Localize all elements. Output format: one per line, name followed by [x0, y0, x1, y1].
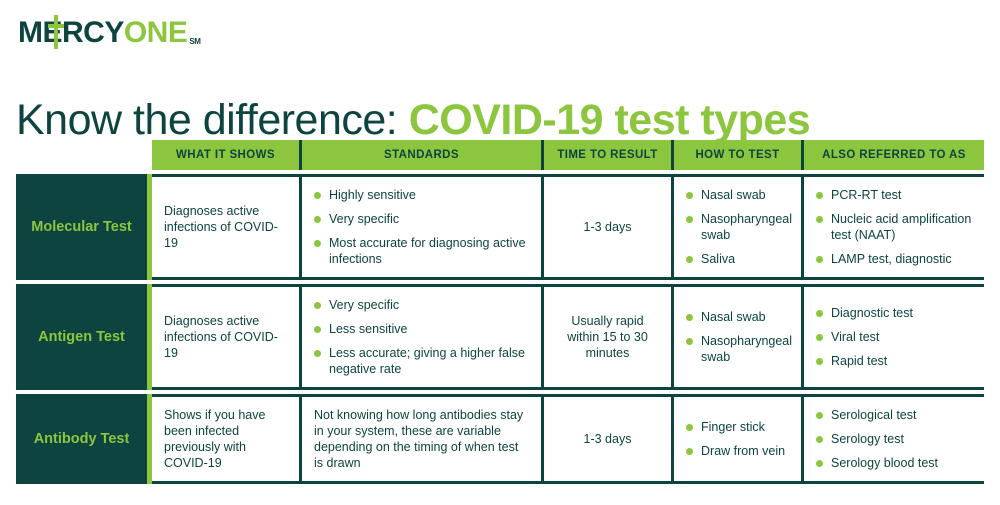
row-label-antibody-test: Antibody Test [16, 394, 152, 484]
table-row: Antigen Test Diagnoses active infections… [16, 284, 984, 390]
list-item: Serological test [816, 407, 972, 423]
bullet-list: Finger stick Draw from vein [686, 419, 789, 459]
list-item: Nasal swab [686, 309, 789, 325]
page-title-accent: COVID-19 test types [409, 96, 811, 144]
cell-text: Not knowing how long antibodies stay in … [314, 407, 529, 471]
cell-text: Usually rapid within 15 to 30 minutes [556, 313, 659, 361]
logo-servicemark: SM [189, 38, 200, 46]
cell-time-to-result: 1-3 days [544, 177, 674, 277]
column-header-what-it-shows: WHAT IT SHOWS [152, 140, 302, 170]
comparison-table: WHAT IT SHOWS STANDARDS TIME TO RESULT H… [16, 140, 984, 484]
cell-text: Diagnoses active infections of COVID-19 [164, 313, 287, 361]
cell-also-referred-to-as: Serological test Serology test Serology … [804, 397, 984, 481]
cell-also-referred-to-as: PCR-RT test Nucleic acid amplification t… [804, 177, 984, 277]
list-item: PCR-RT test [816, 187, 972, 203]
column-header-how-to-test: HOW TO TEST [674, 140, 804, 170]
row-label-molecular-test: Molecular Test [16, 174, 152, 280]
list-item: Highly sensitive [314, 187, 529, 203]
cell-text: 1-3 days [584, 219, 632, 235]
cell-how-to-test: Nasal swab Nasopharyngeal swab [674, 287, 804, 387]
logo-text-mercy: MERCY [18, 18, 124, 48]
page-title-plain: Know the difference: [16, 96, 409, 144]
cell-how-to-test: Finger stick Draw from vein [674, 397, 804, 481]
cell-how-to-test: Nasal swab Nasopharyngeal swab Saliva [674, 177, 804, 277]
column-header-standards: STANDARDS [302, 140, 544, 170]
cell-text: 1-3 days [584, 431, 632, 447]
table-header-row: WHAT IT SHOWS STANDARDS TIME TO RESULT H… [152, 140, 984, 170]
cell-standards: Not knowing how long antibodies stay in … [302, 397, 544, 481]
cell-standards: Very specific Less sensitive Less accura… [302, 287, 544, 387]
bullet-list: Highly sensitive Very specific Most accu… [314, 187, 529, 267]
list-item: Nasal swab [686, 187, 789, 203]
column-header-also-referred-to-as: ALSO REFERRED TO AS [804, 140, 984, 170]
cell-standards: Highly sensitive Very specific Most accu… [302, 177, 544, 277]
list-item: LAMP test, diagnostic [816, 251, 972, 267]
list-item: Saliva [686, 251, 789, 267]
cell-text: Diagnoses active infections of COVID-19 [164, 203, 287, 251]
logo-text-one: ONE [124, 18, 188, 48]
row-label-antigen-test: Antigen Test [16, 284, 152, 390]
list-item: Nasopharyngeal swab [686, 333, 789, 365]
list-item: Less sensitive [314, 321, 529, 337]
list-item: Very specific [314, 211, 529, 227]
page-title: Know the difference: COVID-19 test types [16, 95, 810, 145]
bullet-list: Very specific Less sensitive Less accura… [314, 297, 529, 377]
bullet-list: PCR-RT test Nucleic acid amplification t… [816, 187, 972, 267]
bullet-list: Nasal swab Nasopharyngeal swab Saliva [686, 187, 789, 267]
table-row: Molecular Test Diagnoses active infectio… [16, 174, 984, 280]
list-item: Diagnostic test [816, 305, 972, 321]
mercyone-logo: MERCY ONESM [18, 18, 200, 48]
cell-time-to-result: Usually rapid within 15 to 30 minutes [544, 287, 674, 387]
list-item: Very specific [314, 297, 529, 313]
list-item: Rapid test [816, 353, 972, 369]
list-item: Nasopharyngeal swab [686, 211, 789, 243]
bullet-list: Serological test Serology test Serology … [816, 407, 972, 471]
cell-also-referred-to-as: Diagnostic test Viral test Rapid test [804, 287, 984, 387]
list-item: Serology test [816, 431, 972, 447]
list-item: Finger stick [686, 419, 789, 435]
bullet-list: Nasal swab Nasopharyngeal swab [686, 309, 789, 365]
cell-what-it-shows: Shows if you have been infected previous… [152, 397, 302, 481]
column-header-time-to-result: TIME TO RESULT [544, 140, 674, 170]
list-item: Draw from vein [686, 443, 789, 459]
bullet-list: Diagnostic test Viral test Rapid test [816, 305, 972, 369]
list-item: Nucleic acid amplification test (NAAT) [816, 211, 972, 243]
list-item: Serology blood test [816, 455, 972, 471]
list-item: Less accurate; giving a higher false neg… [314, 345, 529, 377]
list-item: Viral test [816, 329, 972, 345]
table-row: Antibody Test Shows if you have been inf… [16, 394, 984, 484]
cell-text: Shows if you have been infected previous… [164, 407, 287, 471]
cell-what-it-shows: Diagnoses active infections of COVID-19 [152, 287, 302, 387]
list-item: Most accurate for diagnosing active infe… [314, 235, 529, 267]
cell-what-it-shows: Diagnoses active infections of COVID-19 [152, 177, 302, 277]
cell-time-to-result: 1-3 days [544, 397, 674, 481]
